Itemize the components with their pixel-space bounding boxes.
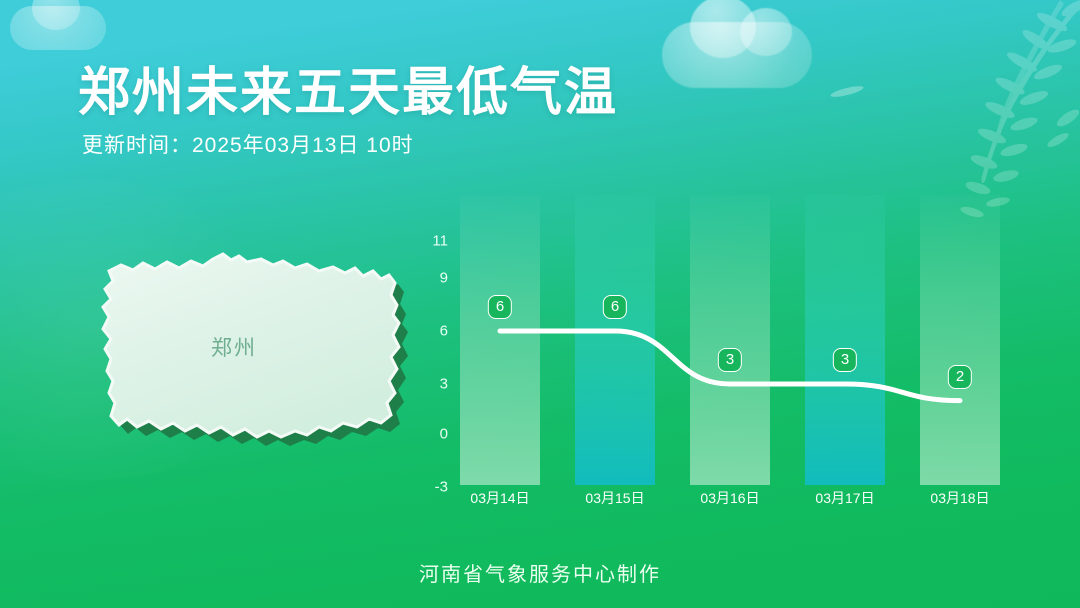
y-axis-tick-label: -3: [414, 479, 448, 496]
data-point-label: 2: [948, 365, 972, 389]
chart-bar: [690, 195, 770, 485]
data-point-label: 6: [488, 295, 512, 319]
chart-bar: [805, 195, 885, 485]
data-point-label: 3: [718, 348, 742, 372]
x-axis-tick-label: 03月14日: [450, 488, 550, 508]
x-axis-tick-label: 03月17日: [795, 488, 895, 508]
x-axis-tick-label: 03月15日: [565, 488, 665, 508]
weather-infographic: 郑州未来五天最低气温 更新时间：2025年03月13日 10时 郑州: [0, 0, 1080, 608]
y-axis-tick-label: 6: [414, 323, 448, 340]
chart-bar: [575, 195, 655, 485]
temperature-chart: 119630-3 03月14日03月15日03月16日03月17日03月18日 …: [0, 0, 1080, 608]
y-axis-tick-label: 3: [414, 376, 448, 393]
footer-credit: 河南省气象服务中心制作: [0, 558, 1080, 587]
x-axis-tick-label: 03月16日: [680, 488, 780, 508]
x-axis-tick-label: 03月18日: [910, 488, 1010, 508]
data-point-label: 6: [603, 295, 627, 319]
y-axis-tick-label: 0: [414, 426, 448, 443]
chart-bar: [920, 195, 1000, 485]
chart-bars: [0, 0, 1080, 608]
y-axis-tick-label: 9: [414, 270, 448, 287]
y-axis-tick-label: 11: [414, 233, 448, 250]
data-point-label: 3: [833, 348, 857, 372]
chart-bar: [460, 195, 540, 485]
